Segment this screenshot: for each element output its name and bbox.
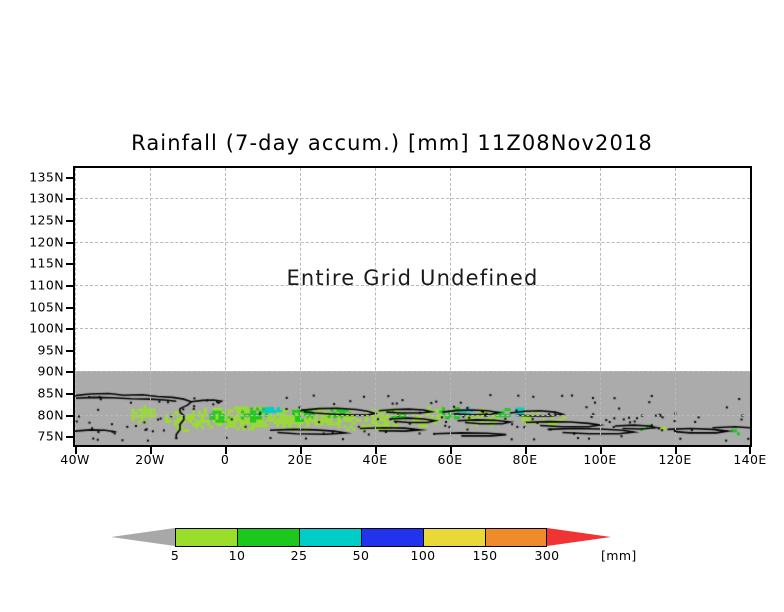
colorbar-tick-label: 100 <box>410 548 435 563</box>
y-axis-tick-mark <box>66 285 73 287</box>
colorbar-segment <box>299 528 361 547</box>
colorbar-tick-label: 150 <box>472 548 497 563</box>
y-axis-tick-label: 95N <box>38 342 64 357</box>
y-axis-tick-label: 85N <box>38 386 64 401</box>
y-axis-tick-mark <box>66 328 73 330</box>
colorbar-segment <box>485 528 547 547</box>
y-axis-tick-mark <box>66 177 73 179</box>
x-axis-tick-mark <box>75 447 77 454</box>
y-axis-tick-mark <box>66 242 73 244</box>
gridline-vertical <box>150 168 151 445</box>
gridline-horizontal <box>75 242 750 243</box>
x-axis-tick-label: 100E <box>583 452 616 467</box>
entire-grid-undefined-label: Entire Grid Undefined <box>75 266 750 290</box>
y-axis-tick-label: 130N <box>29 191 64 206</box>
y-axis-tick-label: 135N <box>29 169 64 184</box>
x-axis-tick-label: 80E <box>512 452 537 467</box>
gridline-vertical <box>600 168 601 445</box>
y-axis-tick-mark <box>66 371 73 373</box>
y-axis-tick-mark <box>66 393 73 395</box>
y-axis-tick-mark <box>66 415 73 417</box>
y-axis-tick-label: 125N <box>29 212 64 227</box>
x-axis-tick-mark <box>675 447 677 454</box>
y-axis-tick-label: 120N <box>29 234 64 249</box>
x-axis-tick-mark <box>450 447 452 454</box>
y-axis-tick-mark <box>66 350 73 352</box>
y-axis-tick-label: 75N <box>38 429 64 444</box>
plot-canvas: Entire Grid Undefined <box>75 168 750 445</box>
x-axis-tick-label: 20E <box>287 452 312 467</box>
x-axis-tick-label: 0 <box>221 452 229 467</box>
x-axis-tick-mark <box>525 447 527 454</box>
colorbar-segment <box>423 528 485 547</box>
gridline-vertical <box>375 168 376 445</box>
x-axis-tick-mark <box>150 447 152 454</box>
y-axis-tick-mark <box>66 436 73 438</box>
x-axis-tick-label: 60E <box>437 452 462 467</box>
x-axis-tick-mark <box>600 447 602 454</box>
colorbar-tick-label: 10 <box>229 548 246 563</box>
y-axis-tick-mark <box>66 307 73 309</box>
colorbar-segment <box>237 528 299 547</box>
gridline-horizontal <box>75 371 750 372</box>
y-axis-tick-label: 80N <box>38 407 64 422</box>
gridline-vertical <box>225 168 226 445</box>
colorbar-over-arrow <box>547 528 611 546</box>
gridline-vertical <box>525 168 526 445</box>
y-axis-tick-mark <box>66 198 73 200</box>
gridline-horizontal <box>75 198 750 199</box>
x-axis-tick-mark <box>225 447 227 454</box>
y-axis-tick-label: 105N <box>29 299 64 314</box>
x-axis-tick-label: 40W <box>60 452 89 467</box>
gridline-horizontal <box>75 328 750 329</box>
page-title: Rainfall (7-day accum.) [mm] 11Z08Nov201… <box>0 131 784 155</box>
colorbar-tick-label: 300 <box>534 548 559 563</box>
x-axis-tick-label: 20W <box>135 452 164 467</box>
colorbar-segment <box>361 528 423 547</box>
gridline-vertical <box>675 168 676 445</box>
y-axis-tick-label: 100N <box>29 321 64 336</box>
plot-area: Entire Grid Undefined <box>73 166 752 447</box>
y-axis-tick-mark <box>66 220 73 222</box>
colorbar <box>175 528 547 547</box>
x-axis-tick-label: 40E <box>362 452 387 467</box>
y-axis-tick-label: 115N <box>29 256 64 271</box>
gridline-horizontal <box>75 415 750 416</box>
gridline-vertical <box>450 168 451 445</box>
x-axis-tick-mark <box>300 447 302 454</box>
rainfall-raster <box>75 168 750 445</box>
gridline-vertical <box>750 168 751 445</box>
x-axis-tick-label: 140E <box>733 452 766 467</box>
colorbar-under-arrow <box>111 528 175 546</box>
y-axis-tick-label: 90N <box>38 364 64 379</box>
y-axis-tick-mark <box>66 263 73 265</box>
gridline-vertical <box>300 168 301 445</box>
x-axis-tick-label: 120E <box>658 452 691 467</box>
colorbar-tick-label: 5 <box>171 548 179 563</box>
colorbar-segment <box>175 528 237 547</box>
gridline-vertical <box>75 168 76 445</box>
colorbar-tick-label: 50 <box>353 548 370 563</box>
y-axis-tick-label: 110N <box>29 277 64 292</box>
x-axis-tick-mark <box>749 447 751 454</box>
colorbar-tick-label: 25 <box>291 548 308 563</box>
x-axis-tick-mark <box>375 447 377 454</box>
colorbar-unit-label: [mm] <box>601 548 637 563</box>
